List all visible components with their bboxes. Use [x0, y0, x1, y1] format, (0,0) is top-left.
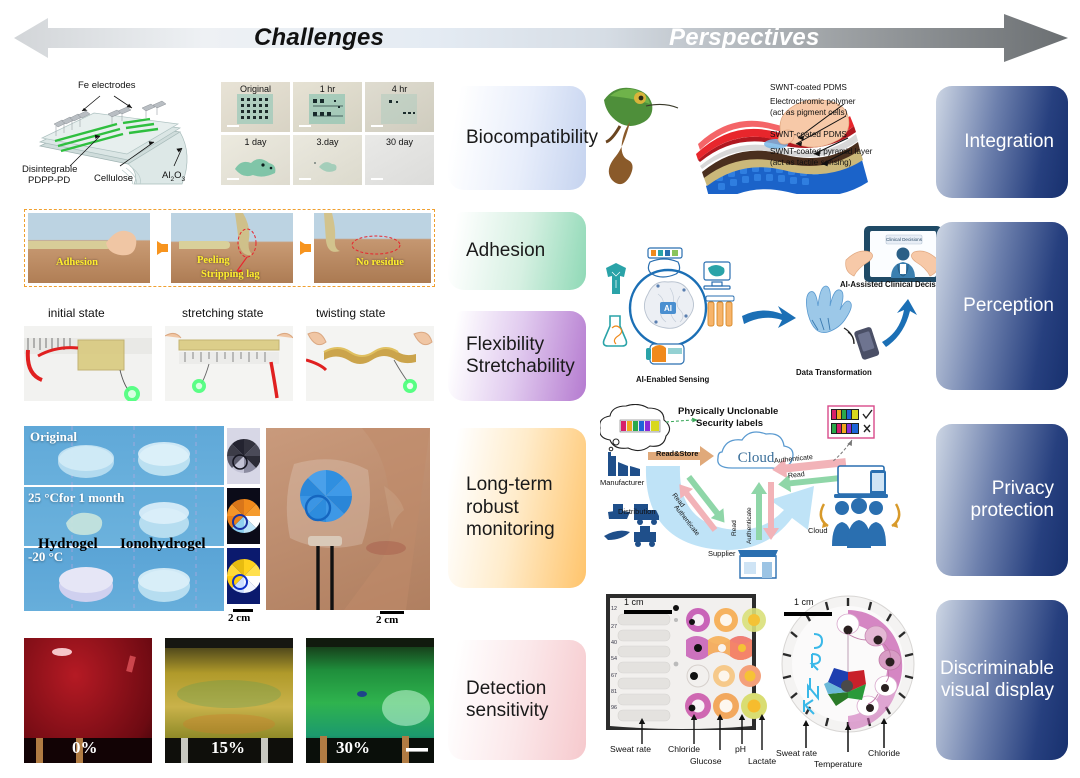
detection-strain-label: 15% — [211, 738, 245, 758]
micrograph-cell: 4 hr — [365, 82, 434, 132]
ionohydrogel-sample-label: Ionohydrogel — [120, 536, 206, 553]
privacy-title-line2: Security labels — [696, 418, 763, 429]
header-label-perspectives: Perspectives — [669, 14, 820, 62]
category-label: Privacy protection — [971, 478, 1068, 523]
scale-bar-icon — [227, 178, 239, 180]
micrograph-cell: 1 hr — [293, 82, 362, 132]
svg-text:Cloud: Cloud — [738, 450, 775, 466]
patch-analyte-chloride: Chloride — [668, 744, 700, 754]
detection-strain-label: 30% — [336, 738, 370, 758]
micrograph-cell: 1 day — [221, 135, 290, 185]
scale-bar-icon — [227, 125, 239, 127]
scale-bar-left-label: 2 cm — [228, 612, 250, 624]
adhesion-photo-3: No residue — [314, 213, 431, 283]
patch-scale-bar-label: 1 cm — [624, 597, 644, 607]
privacy-flow-auth-2: Authenticate — [746, 507, 753, 544]
detection-strain-label: 0% — [72, 738, 98, 758]
micrograph-cell: 30 day — [365, 135, 434, 185]
figure-canvas: Challenges Perspectives — [0, 0, 1080, 778]
integration-annotation-3: SWNT-coated PDMS — [770, 130, 847, 141]
micrograph-label: 1 day — [221, 137, 290, 147]
sensor-on-face-photo — [266, 428, 430, 610]
micrograph-label: 30 day — [365, 137, 434, 147]
micrograph-cell: 3.day — [293, 135, 362, 185]
flexibility-state-label: twisting state — [316, 306, 385, 320]
category-privacy[interactable]: Privacy protection — [936, 424, 1068, 576]
flow-arrow-icon — [300, 241, 311, 255]
pinwheel-strip: 2 cm — [227, 426, 260, 611]
category-flexibility[interactable]: Flexibility Stretchability — [448, 311, 586, 401]
disc-analyte-sweat-rate: Sweat rate — [776, 748, 817, 758]
detection-photo-0: 0% — [24, 638, 152, 763]
panel-device-schematic: Fe electrodes Disintegrable PDPP-PD Cell… — [22, 80, 217, 188]
hydrogel-condition-label: Original — [30, 429, 77, 445]
disc-scale-bar-label: 1 cm — [794, 597, 814, 607]
micrograph-label: 4 hr — [365, 84, 434, 94]
patch-side-number: 54 — [611, 656, 617, 662]
disc-analyte-chloride: Chloride — [868, 748, 900, 758]
tablet-screen-title: Clinical Decisions — [886, 237, 922, 242]
integration-annotation-5: (act as tactile sensing) — [770, 158, 851, 169]
patch-analyte-glucose: Glucose — [690, 756, 722, 766]
panel-integration: SWNT-coated PDMS Electrochromic polymer … — [600, 82, 945, 194]
pinwheel-grey — [227, 428, 260, 484]
micrograph-label: Original — [221, 84, 290, 94]
header-label-challenges: Challenges — [254, 14, 384, 62]
privacy-flow-read-store: Read&Store — [656, 449, 698, 458]
panel-display: 1 cm 12 27 40 54 67 81 96 Sweat rate Chl… — [602, 592, 947, 772]
sweat-disc-photo: 1 cm Sweat rate Temperature Chloride — [772, 592, 944, 772]
perception-label-transform: Data Transformation — [796, 368, 872, 377]
category-biocompatibility[interactable]: Biocompatibility — [448, 86, 586, 190]
category-long-term[interactable]: Long-term robust monitoring — [448, 428, 586, 588]
scale-bar-icon — [299, 178, 311, 180]
micrograph-label: 3.day — [293, 137, 362, 147]
patch-scale-bar — [624, 610, 672, 614]
hydrogel-condition-label: 25 °Cfor 1 month — [28, 490, 124, 506]
adhesion-photo-2: Peeling Stripping lag — [171, 213, 293, 283]
micrograph-label: 1 hr — [293, 84, 362, 94]
privacy-title-line1: Physically Unclonable — [678, 406, 778, 417]
flexibility-state-label: initial state — [48, 306, 105, 320]
flexibility-photo-initial — [24, 326, 152, 401]
flexibility-state-label: stretching state — [182, 306, 263, 320]
panel-detection: 0% 15% 30% — [24, 638, 435, 763]
schematic-label-pdpp-pd: PDPP-PD — [28, 175, 70, 186]
hydrogel-row-minus20c: -20 °C — [24, 548, 224, 611]
category-label: Long-term robust monitoring — [448, 474, 555, 541]
integration-annotation-2: (act as pigment cells) — [770, 108, 847, 119]
panel-degradation-grid: Original 1 hr — [221, 82, 435, 186]
flexibility-photo-stretching — [165, 326, 293, 401]
schematic-label-disintegrable: Disintegrable — [22, 164, 77, 175]
scale-bar-icon — [299, 125, 311, 127]
adhesion-annotation: Stripping lag — [201, 269, 260, 280]
detection-photo-1: 15% — [165, 638, 293, 763]
category-label: Discriminable visual display — [940, 658, 1068, 703]
micrograph-cell: Original — [221, 82, 290, 132]
schematic-label-fe-electrodes: Fe electrodes — [78, 80, 136, 91]
adhesion-step-label: Peeling — [197, 255, 230, 266]
category-label: Detection sensitivity — [448, 678, 548, 723]
adhesion-step-label: No residue — [356, 257, 404, 268]
privacy-node-end-users: Cloud — [808, 526, 828, 535]
scale-bar-right-label: 2 cm — [376, 614, 398, 626]
sweat-patch-photo: 1 cm 12 27 40 54 67 81 96 Sweat rate Chl… — [602, 592, 774, 772]
category-detection[interactable]: Detection sensitivity — [448, 640, 586, 760]
perception-label-sensing: AI-Enabled Sensing — [636, 375, 709, 384]
category-label: Flexibility Stretchability — [448, 334, 575, 379]
panel-adhesion: Adhesion Peeling Stripping lag No residu… — [24, 209, 435, 287]
patch-side-number: 12 — [611, 606, 617, 612]
header-arrow: Challenges Perspectives — [14, 14, 1068, 62]
hydrogel-stack: Original 25 °Cfor 1 month — [24, 426, 224, 611]
header-arrow-shape — [14, 14, 1068, 62]
patch-side-number: 67 — [611, 673, 617, 679]
scale-bar-icon — [371, 125, 383, 127]
patch-side-number: 81 — [611, 689, 617, 695]
patch-side-number: 96 — [611, 705, 617, 711]
hydrogel-sample-label: Hydrogel — [38, 536, 98, 553]
integration-annotation-4: SWNT-coated pyramid layer — [770, 147, 872, 158]
category-integration[interactable]: Integration — [936, 86, 1068, 198]
category-display[interactable]: Discriminable visual display — [936, 600, 1068, 760]
perception-diagram: AI — [600, 220, 945, 388]
category-label: Biocompatibility — [448, 127, 598, 149]
category-label: Integration — [964, 131, 1068, 153]
adhesion-step-label: Adhesion — [56, 257, 98, 268]
panel-flexibility: initial state stretching state twisting … — [24, 306, 435, 401]
detection-photo-2: 30% — [306, 638, 434, 763]
svg-text:AI: AI — [664, 304, 672, 313]
panel-perception: AI — [600, 220, 945, 388]
privacy-node-manufacturer: Manufacturer — [600, 478, 644, 487]
disc-scale-bar — [784, 612, 832, 616]
flow-arrow-icon — [157, 241, 168, 255]
patch-side-number: 27 — [611, 624, 617, 630]
privacy-flow-read-2: Read — [731, 520, 738, 536]
schematic-label-al2o3: Al2O3 — [162, 170, 185, 183]
category-perception[interactable]: Perception — [936, 222, 1068, 390]
integration-annotation-1: Electrochromic polymer — [770, 97, 856, 108]
hydrogel-row-original: Original — [24, 426, 224, 485]
privacy-node-distribution: Distribution — [618, 507, 656, 516]
patch-analyte-ph: pH — [735, 744, 746, 754]
privacy-node-supplier: Supplier — [708, 549, 736, 558]
patch-side-number: 40 — [611, 640, 617, 646]
flexibility-photo-twisting — [306, 326, 434, 401]
disc-analyte-temperature: Temperature — [814, 759, 862, 769]
pinwheel-orange — [227, 488, 260, 544]
schematic-label-cellulose: Cellulose — [94, 173, 133, 184]
adhesion-photo-1: Adhesion — [28, 213, 150, 283]
pinwheel-yellow — [227, 548, 260, 604]
patch-analyte-sweat-rate: Sweat rate — [610, 744, 651, 754]
panel-privacy: Cloud — [600, 404, 945, 584]
integration-annotation-0: SWNT-coated PDMS — [770, 83, 847, 94]
scale-bar-icon — [371, 178, 383, 180]
category-label: Perception — [963, 295, 1068, 317]
category-label: Adhesion — [448, 240, 545, 262]
privacy-diagram: Cloud — [600, 404, 945, 584]
panel-long-term: Original 25 °Cfor 1 month — [24, 426, 435, 618]
category-adhesion[interactable]: Adhesion — [448, 212, 586, 290]
